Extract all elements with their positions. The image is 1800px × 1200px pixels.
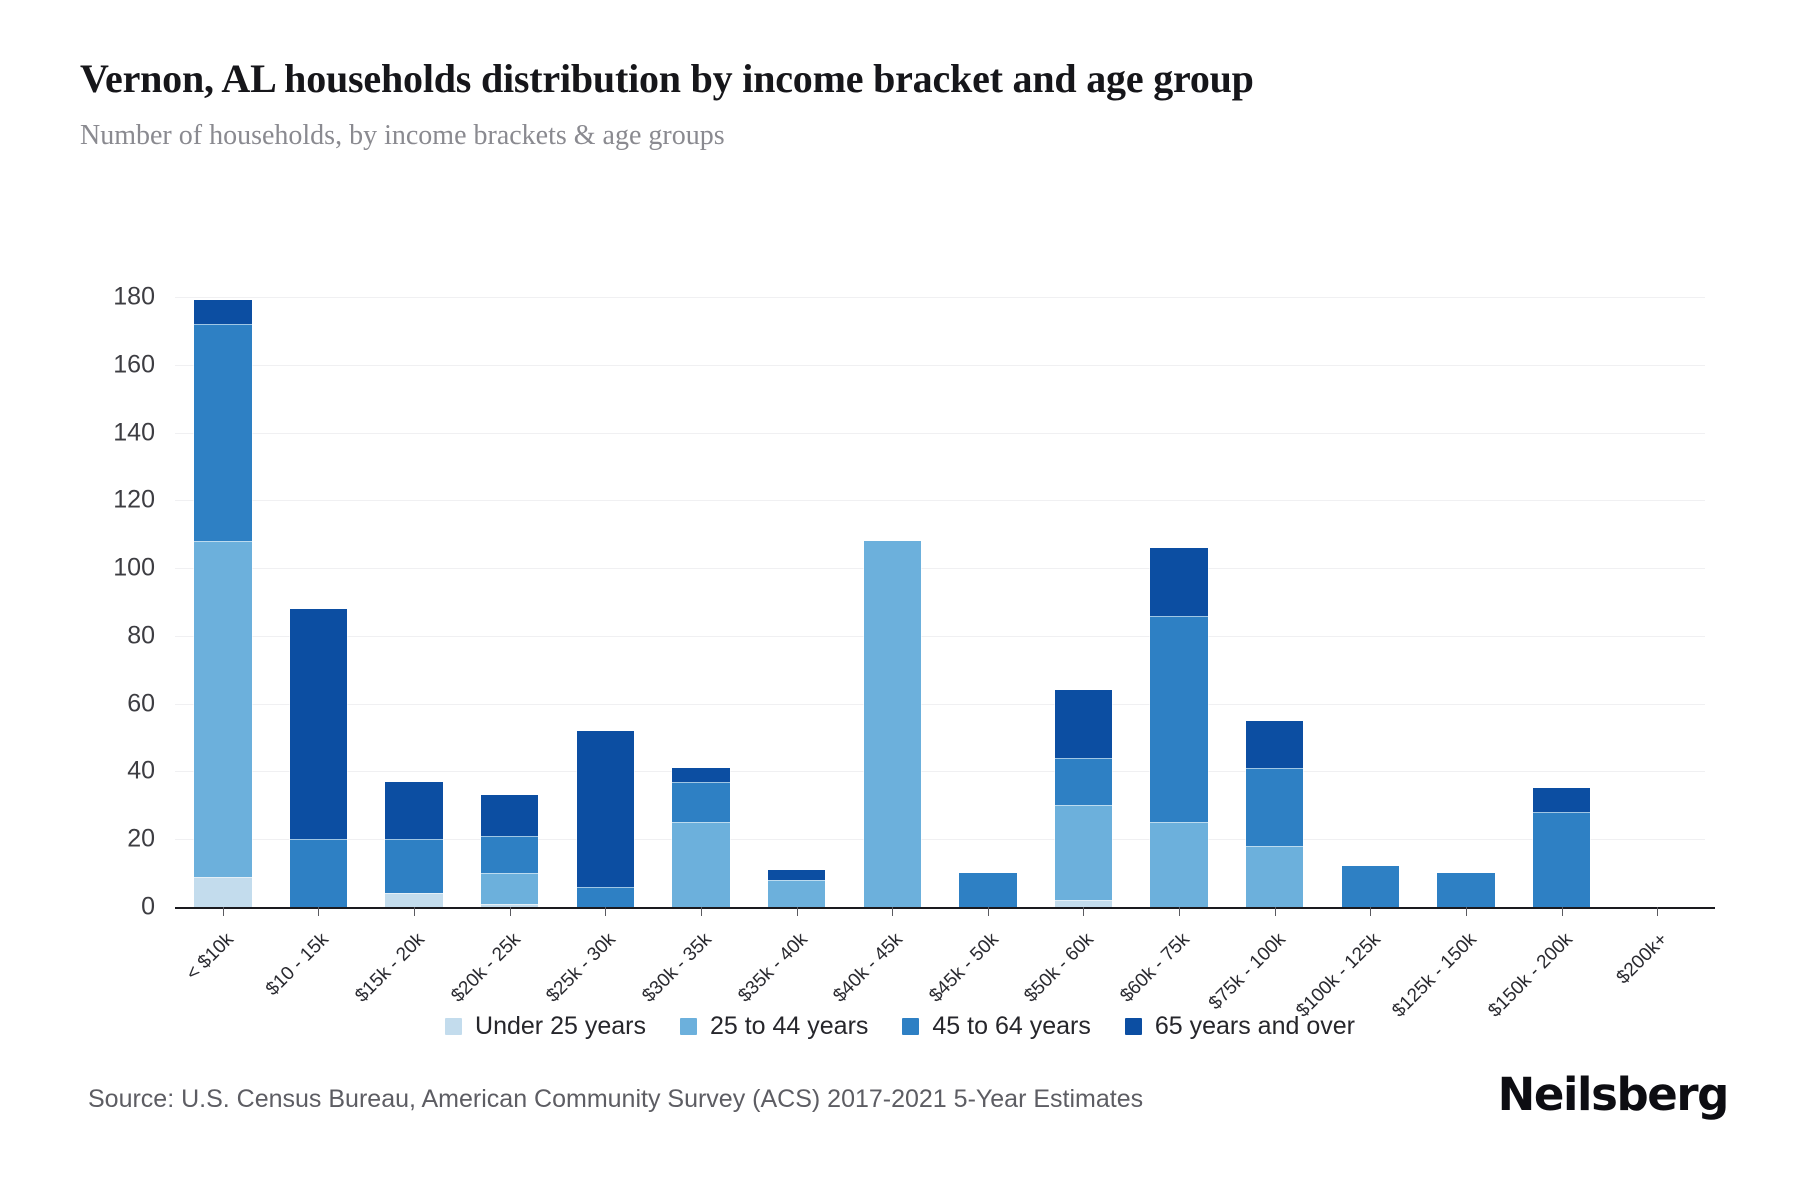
bar-segment[interactable] xyxy=(1150,822,1207,907)
legend-item-label: 45 to 64 years xyxy=(932,1012,1090,1041)
x-axis-line xyxy=(175,907,1715,909)
y-axis-tick-label: 140 xyxy=(35,418,155,447)
bar-segment[interactable] xyxy=(385,839,442,893)
bar-group[interactable] xyxy=(481,297,538,907)
legend-swatch-icon xyxy=(445,1018,462,1035)
legend-swatch-icon xyxy=(1125,1018,1142,1035)
y-axis-tick-label: 0 xyxy=(35,893,155,922)
x-axis-tick xyxy=(797,907,798,916)
page-subtitle: Number of households, by income brackets… xyxy=(80,120,725,152)
bar-segment[interactable] xyxy=(672,768,729,782)
legend-item[interactable]: 65 years and over xyxy=(1125,1012,1355,1041)
x-axis-tick xyxy=(701,907,702,916)
x-axis-tick xyxy=(1083,907,1084,916)
bar-group[interactable] xyxy=(1437,297,1494,907)
bar-group[interactable] xyxy=(672,297,729,907)
x-axis-tick xyxy=(1275,907,1276,916)
bar-group[interactable] xyxy=(959,297,1016,907)
bar-segment[interactable] xyxy=(1342,866,1399,907)
bar-segment[interactable] xyxy=(1055,758,1112,805)
legend-item-label: Under 25 years xyxy=(475,1012,646,1041)
legend-item-label: 65 years and over xyxy=(1155,1012,1355,1041)
x-axis-tick xyxy=(223,907,224,916)
y-axis-tick-label: 60 xyxy=(35,689,155,718)
bar-segment[interactable] xyxy=(768,870,825,880)
legend-item[interactable]: 25 to 44 years xyxy=(680,1012,868,1041)
bar-segment[interactable] xyxy=(672,782,729,823)
bar-group[interactable] xyxy=(1629,297,1686,907)
bar-segment[interactable] xyxy=(959,873,1016,907)
bar-group[interactable] xyxy=(290,297,347,907)
legend-swatch-icon xyxy=(902,1018,919,1035)
bar-group[interactable] xyxy=(1533,297,1590,907)
bar-segment[interactable] xyxy=(768,880,825,907)
x-axis-tick xyxy=(318,907,319,916)
bar-group[interactable] xyxy=(194,297,251,907)
bar-group[interactable] xyxy=(768,297,825,907)
bar-segment[interactable] xyxy=(577,731,634,887)
y-axis-tick-label: 160 xyxy=(35,350,155,379)
bar-segment[interactable] xyxy=(194,541,251,877)
bar-group[interactable] xyxy=(1342,297,1399,907)
bar-segment[interactable] xyxy=(1533,812,1590,907)
x-axis-tick xyxy=(605,907,606,916)
plot-area xyxy=(175,297,1705,907)
y-axis-tick-label: 100 xyxy=(35,554,155,583)
bar-segment[interactable] xyxy=(194,300,251,324)
bar-segment[interactable] xyxy=(290,609,347,839)
y-axis-tick-label: 120 xyxy=(35,486,155,515)
y-axis-tick-label: 20 xyxy=(35,825,155,854)
bar-segment[interactable] xyxy=(194,324,251,541)
x-axis-tick xyxy=(1179,907,1180,916)
bar-group[interactable] xyxy=(577,297,634,907)
bar-segment[interactable] xyxy=(194,877,251,908)
bar-segment[interactable] xyxy=(1246,768,1303,846)
bar-segment[interactable] xyxy=(864,541,921,907)
bar-segment[interactable] xyxy=(1246,721,1303,768)
bar-segment[interactable] xyxy=(1055,900,1112,907)
bar-segment[interactable] xyxy=(1150,548,1207,616)
bar-group[interactable] xyxy=(1246,297,1303,907)
legend-swatch-icon xyxy=(680,1018,697,1035)
page-title: Vernon, AL households distribution by in… xyxy=(80,55,1254,102)
y-axis-tick-label: 80 xyxy=(35,621,155,650)
legend-item[interactable]: Under 25 years xyxy=(445,1012,646,1041)
bar-segment[interactable] xyxy=(481,873,538,904)
bar-segment[interactable] xyxy=(481,795,538,836)
x-axis-tick xyxy=(414,907,415,916)
bar-segment[interactable] xyxy=(1055,690,1112,758)
chart-legend: Under 25 years25 to 44 years45 to 64 yea… xyxy=(0,1012,1800,1041)
bar-segment[interactable] xyxy=(672,822,729,907)
x-axis-tick xyxy=(988,907,989,916)
bar-group[interactable] xyxy=(385,297,442,907)
bar-segment[interactable] xyxy=(1246,846,1303,907)
bar-segment[interactable] xyxy=(1055,805,1112,900)
bar-segment[interactable] xyxy=(1533,788,1590,812)
x-axis-tick xyxy=(1657,907,1658,916)
bar-segment[interactable] xyxy=(385,782,442,840)
bar-segment[interactable] xyxy=(385,893,442,907)
bar-segment[interactable] xyxy=(1437,873,1494,907)
x-axis-tick xyxy=(892,907,893,916)
bar-segment[interactable] xyxy=(577,887,634,907)
y-axis-tick-label: 40 xyxy=(35,757,155,786)
bar-segment[interactable] xyxy=(481,836,538,873)
source-note: Source: U.S. Census Bureau, American Com… xyxy=(88,1085,1143,1114)
y-axis-tick-label: 180 xyxy=(35,283,155,312)
legend-item[interactable]: 45 to 64 years xyxy=(902,1012,1090,1041)
bar-group[interactable] xyxy=(864,297,921,907)
bar-group[interactable] xyxy=(1150,297,1207,907)
chart-page: Vernon, AL households distribution by in… xyxy=(0,0,1800,1200)
bar-group[interactable] xyxy=(1055,297,1112,907)
brand-logo: Neilsberg xyxy=(1498,1068,1728,1121)
bar-segment[interactable] xyxy=(290,839,347,907)
legend-item-label: 25 to 44 years xyxy=(710,1012,868,1041)
x-axis-tick xyxy=(1370,907,1371,916)
bar-segment[interactable] xyxy=(1150,616,1207,823)
x-axis-tick xyxy=(1466,907,1467,916)
x-axis-tick xyxy=(1562,907,1563,916)
x-axis-tick xyxy=(510,907,511,916)
